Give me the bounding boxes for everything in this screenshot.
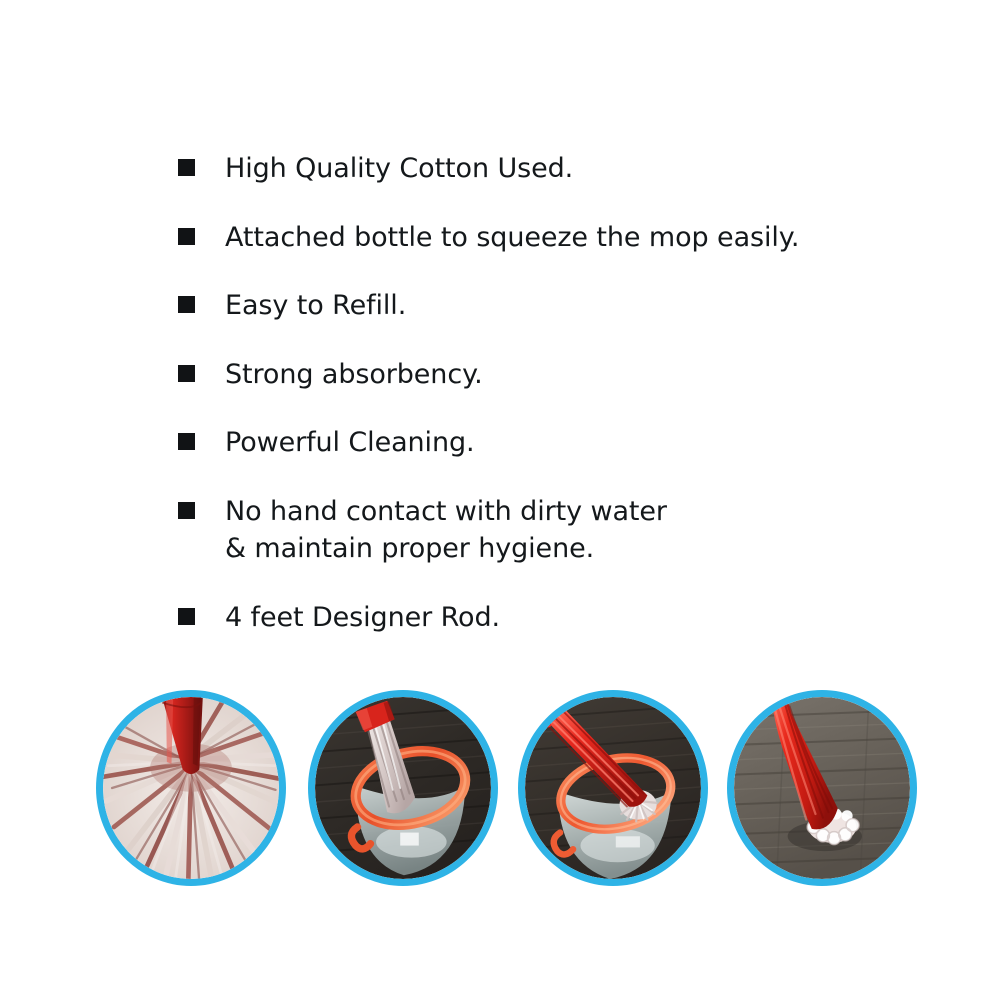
feature-label: High Quality Cotton Used. <box>225 150 573 188</box>
bullet-square-icon <box>178 228 195 245</box>
photo-inner <box>103 697 279 879</box>
bullet-square-icon <box>178 433 195 450</box>
bullet-square-icon <box>178 608 195 625</box>
list-item: Attached bottle to squeeze the mop easil… <box>178 219 898 257</box>
list-item: Powerful Cleaning. <box>178 424 898 462</box>
mop-rod-over-bucket-image <box>525 697 701 879</box>
list-item: Strong absorbency. <box>178 356 898 394</box>
mop-in-bucket-image <box>315 697 491 879</box>
list-item: Easy to Refill. <box>178 287 898 325</box>
photo-inner <box>734 697 910 879</box>
feature-label: Attached bottle to squeeze the mop easil… <box>225 219 799 257</box>
product-photo-mop-on-floor <box>727 690 917 886</box>
photo-inner <box>315 697 491 879</box>
bullet-square-icon <box>178 365 195 382</box>
product-photo-strip <box>0 690 1000 900</box>
feature-label: Powerful Cleaning. <box>225 424 475 462</box>
feature-list: High Quality Cotton Used. Attached bottl… <box>178 150 898 636</box>
bullet-square-icon <box>178 159 195 176</box>
feature-label: 4 feet Designer Rod. <box>225 599 500 637</box>
mop-on-floor-image <box>734 697 910 879</box>
mop-head-closeup-image <box>103 697 279 879</box>
feature-label: Easy to Refill. <box>225 287 406 325</box>
photo-inner <box>525 697 701 879</box>
product-feature-page: High Quality Cotton Used. Attached bottl… <box>0 0 1000 1000</box>
product-photo-mop-in-bucket <box>308 690 498 886</box>
list-item: High Quality Cotton Used. <box>178 150 898 188</box>
feature-label: No hand contact with dirty water & maint… <box>225 493 667 568</box>
list-item: No hand contact with dirty water & maint… <box>178 493 898 568</box>
list-item: 4 feet Designer Rod. <box>178 599 898 637</box>
feature-label: Strong absorbency. <box>225 356 483 394</box>
product-photo-mop-rod-over-bucket <box>518 690 708 886</box>
product-photo-mop-head-closeup <box>96 690 286 886</box>
bullet-square-icon <box>178 502 195 519</box>
bullet-square-icon <box>178 296 195 313</box>
